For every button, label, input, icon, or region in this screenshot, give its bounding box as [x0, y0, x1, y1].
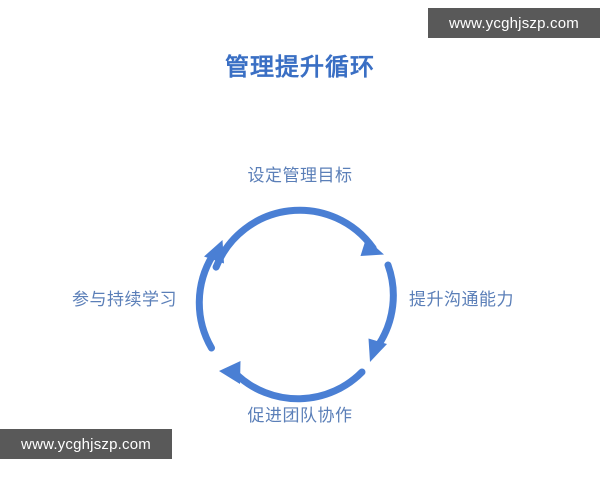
watermark-top-right: www.ycghjszp.com [428, 8, 600, 38]
cycle-label-bottom: 促进团队协作 [0, 401, 600, 426]
watermark-bottom-left: www.ycghjszp.com [0, 429, 172, 459]
arrow-top-arc [216, 210, 373, 267]
arrow-right [369, 265, 394, 362]
cycle-diagram: 设定管理目标 提升沟通能力 促进团队协作 参与持续学习 [0, 0, 600, 480]
arrow-top [216, 210, 384, 267]
arrow-left-arc [199, 255, 213, 348]
arrow-bottom [219, 361, 362, 399]
arrow-right-arc [379, 265, 394, 345]
cycle-label-right: 提升沟通能力 [409, 285, 514, 310]
arrow-bottom-head-icon [219, 361, 241, 384]
slide-canvas: 管理提升循环 [0, 0, 600, 480]
arrow-left [199, 240, 224, 348]
cycle-label-top: 设定管理目标 [0, 161, 600, 186]
arrow-bottom-arc [237, 372, 362, 399]
cycle-label-left: 参与持续学习 [72, 285, 177, 310]
